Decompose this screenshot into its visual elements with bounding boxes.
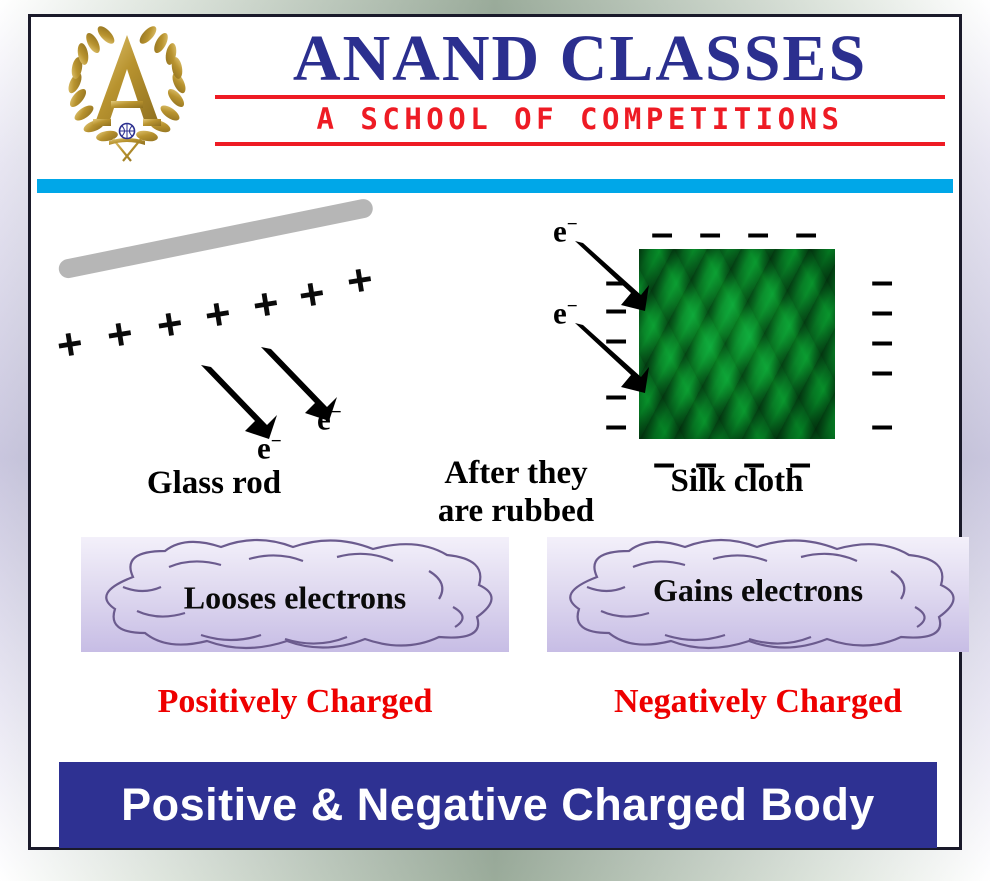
brand-rule-bottom	[215, 142, 945, 146]
minus-charge-icon: –	[871, 359, 893, 383]
letter-a-monogram	[93, 35, 161, 126]
header-divider-bar	[37, 179, 953, 193]
poster-card: ANAND CLASSES A SCHOOL OF COMPETITIONS +…	[28, 14, 962, 850]
plus-charge-icon: +	[344, 257, 376, 304]
callout-left-text: Looses electrons	[81, 579, 509, 616]
electron-arrow-right-1	[573, 233, 683, 323]
plus-charge-icon: +	[250, 281, 282, 328]
minus-charge-icon: –	[871, 413, 893, 437]
electron-label-right-1: e−	[553, 215, 578, 246]
glass-rod-label: Glass rod	[109, 465, 319, 503]
minus-charge-icon: –	[747, 221, 769, 245]
electron-label-left-1: e−	[257, 432, 282, 463]
silk-cloth-label: Silk cloth	[637, 463, 837, 501]
minus-charge-icon: –	[795, 221, 817, 245]
minus-charge-icon: –	[699, 221, 721, 245]
anand-classes-laurel-a-logo	[53, 23, 201, 163]
header: ANAND CLASSES A SCHOOL OF COMPETITIONS	[31, 17, 959, 167]
callout-gains-electrons: Gains electrons	[547, 537, 969, 652]
caption-positively-charged: Positively Charged	[81, 683, 509, 721]
plus-charge-icon: +	[154, 301, 186, 348]
electron-arrow-right-2	[573, 315, 683, 405]
banner-title: Positive & Negative Charged Body	[121, 779, 875, 831]
bottom-banner: Positive & Negative Charged Body	[59, 762, 937, 848]
callout-looses-electrons: Looses electrons	[81, 537, 509, 652]
after-rubbed-label: After they are rubbed	[401, 455, 631, 531]
electron-label-left-2: e−	[317, 403, 342, 434]
page-title: ANAND CLASSES	[209, 25, 951, 92]
logo-svg	[53, 23, 201, 163]
caption-negatively-charged: Negatively Charged	[547, 683, 969, 721]
electron-label-right-2: e−	[553, 297, 578, 328]
glass-rod-shape	[57, 197, 374, 279]
brand-subtitle: A SCHOOL OF COMPETITIONS	[209, 99, 951, 138]
electron-arrow-left-2	[261, 339, 371, 429]
plus-charge-icon: +	[104, 311, 136, 358]
callout-right-text: Gains electrons	[547, 572, 969, 609]
plus-charge-icon: +	[54, 321, 86, 368]
minus-charge-icon: –	[605, 413, 627, 437]
charging-by-friction-diagram: + + + + + + + e− e− Glass rod After they…	[31, 197, 959, 527]
brand-block: ANAND CLASSES A SCHOOL OF COMPETITIONS	[209, 25, 951, 146]
plus-charge-icon: +	[296, 271, 328, 318]
plus-charge-icon: +	[202, 291, 234, 338]
